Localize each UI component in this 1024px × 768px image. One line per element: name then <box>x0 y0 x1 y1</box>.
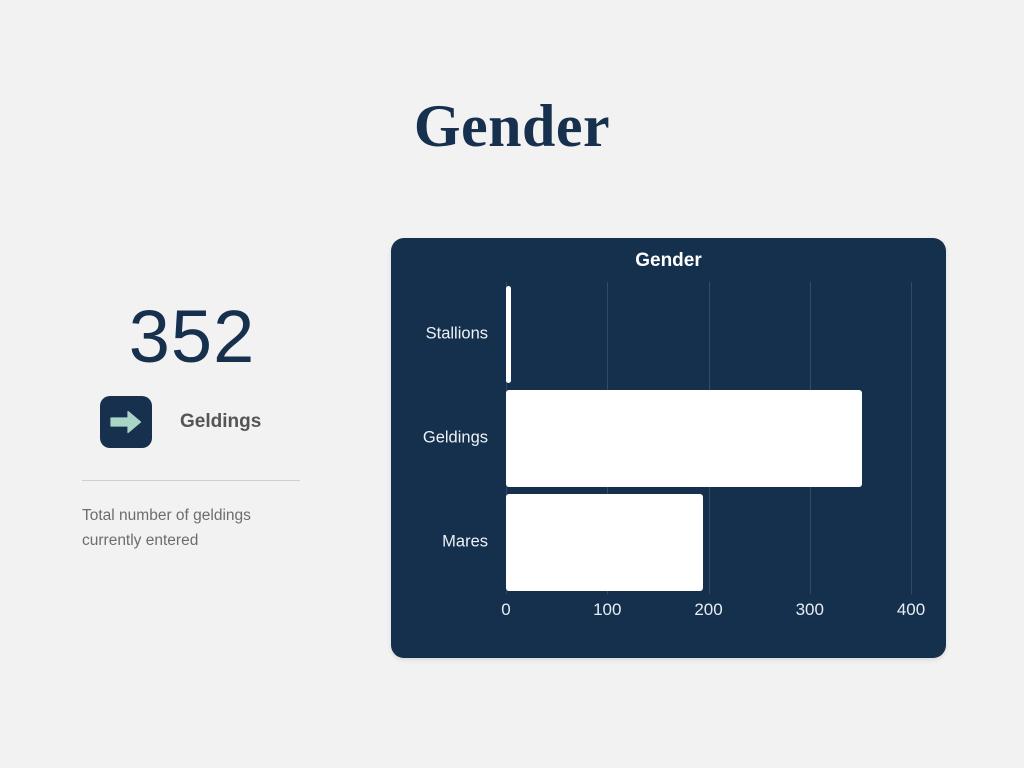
x-axis-tick-label: 100 <box>593 600 621 620</box>
kpi-divider <box>82 480 300 481</box>
kpi-panel: 352 Geldings Total number of geldings cu… <box>82 300 302 553</box>
kpi-label: Geldings <box>180 411 261 433</box>
chart-title: Gender <box>391 250 946 272</box>
x-axis-tick-label: 300 <box>796 600 824 620</box>
page-title: Gender <box>0 96 1024 156</box>
bar-geldings[interactable] <box>506 390 862 487</box>
x-axis-tick-label: 200 <box>694 600 722 620</box>
gender-chart-card: Gender 0100200300400StallionsGeldingsMar… <box>391 238 946 658</box>
kpi-value: 352 <box>82 300 302 374</box>
bar-chart-plot: 0100200300400StallionsGeldingsMares <box>391 282 946 658</box>
x-axis-tick-label: 400 <box>897 600 925 620</box>
bar-stallions[interactable] <box>506 286 511 383</box>
x-axis-tick-label: 0 <box>501 600 510 620</box>
kpi-label-row: Geldings <box>82 396 302 448</box>
gridline <box>911 282 912 594</box>
arrow-right-icon <box>100 396 152 448</box>
bar-mares[interactable] <box>506 494 703 591</box>
kpi-description: Total number of geldings currently enter… <box>82 503 312 553</box>
category-label-stallions: Stallions <box>391 325 488 344</box>
category-label-geldings: Geldings <box>391 429 488 448</box>
category-label-mares: Mares <box>391 533 488 552</box>
